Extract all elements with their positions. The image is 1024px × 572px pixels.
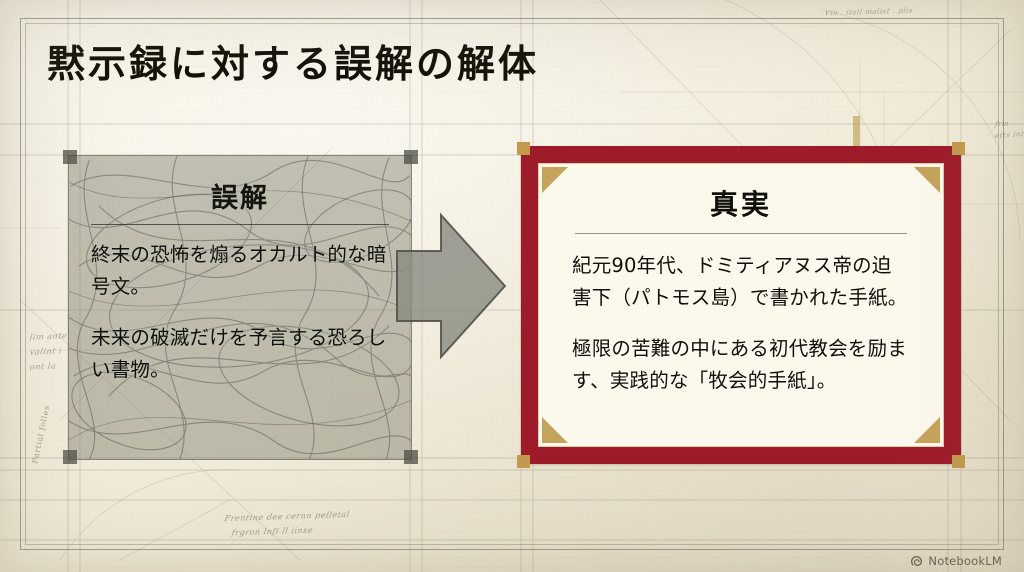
handwritten-note: etts int [994, 130, 1024, 140]
misconception-paragraph: 終末の恐怖を煽るオカルト的な暗号文。 [91, 239, 389, 302]
truth-paragraph: 極限の苦難の中にある初代教会を励ます、実践的な「牧会的手紙」。 [572, 333, 910, 396]
truth-heading: 真実 [572, 183, 910, 223]
page-title: 黙示録に対する誤解の解体 [47, 33, 539, 88]
misconception-panel: 誤解 終末の恐怖を煽るオカルト的な暗号文。 未来の破滅だけを予言する恐ろしい書物… [68, 155, 412, 460]
truth-corner-square [952, 455, 965, 468]
truth-panel: 真実 紀元90年代、ドミティアヌス帝の迫害下（パトモス島）で書かれた手紙。 極限… [521, 146, 961, 464]
right-block-arrow-icon [395, 207, 507, 365]
truth-body: 紀元90年代、ドミティアヌス帝の迫害下（パトモス島）で書かれた手紙。 極限の苦難… [572, 250, 910, 396]
misconception-paragraph: 未来の破滅だけを予言する恐ろしい書物。 [91, 322, 389, 385]
handwritten-note: frm [994, 120, 1009, 129]
truth-corner-square [517, 142, 530, 155]
misconception-heading: 誤解 [91, 176, 389, 215]
slide-canvas: 黙示録に対する誤解の解体 [0, 0, 1024, 572]
gold-corner-wedge-icon [542, 417, 568, 443]
truth-corner-square [952, 142, 965, 155]
gold-corner-wedge-icon [914, 417, 940, 443]
truth-corner-square [517, 455, 530, 468]
handwritten-note: Vin . itali malist . plis [824, 6, 914, 17]
notebooklm-spiral-icon [910, 555, 923, 568]
watermark-label: NotebookLM [928, 554, 1002, 568]
handwritten-note: valint i [29, 346, 63, 357]
truth-divider [575, 233, 907, 234]
truth-interior: 真実 紀元90年代、ドミティアヌス帝の迫害下（パトモス島）で書かれた手紙。 極限… [542, 167, 940, 443]
truth-paragraph: 紀元90年代、ドミティアヌス帝の迫害下（パトモス島）で書かれた手紙。 [572, 250, 910, 313]
misconception-body: 終末の恐怖を煽るオカルト的な暗号文。 未来の破滅だけを予言する恐ろしい書物。 [91, 239, 389, 385]
truth-content: 真実 紀元90年代、ドミティアヌス帝の迫害下（パトモス島）で書かれた手紙。 極限… [542, 167, 940, 396]
notebooklm-watermark: NotebookLM [910, 554, 1002, 568]
misconception-divider [91, 224, 389, 225]
handwritten-note: ont la [29, 361, 57, 371]
misconception-content: 誤解 終末の恐怖を煽るオカルト的な暗号文。 未来の破滅だけを予言する恐ろしい書物… [69, 156, 411, 385]
